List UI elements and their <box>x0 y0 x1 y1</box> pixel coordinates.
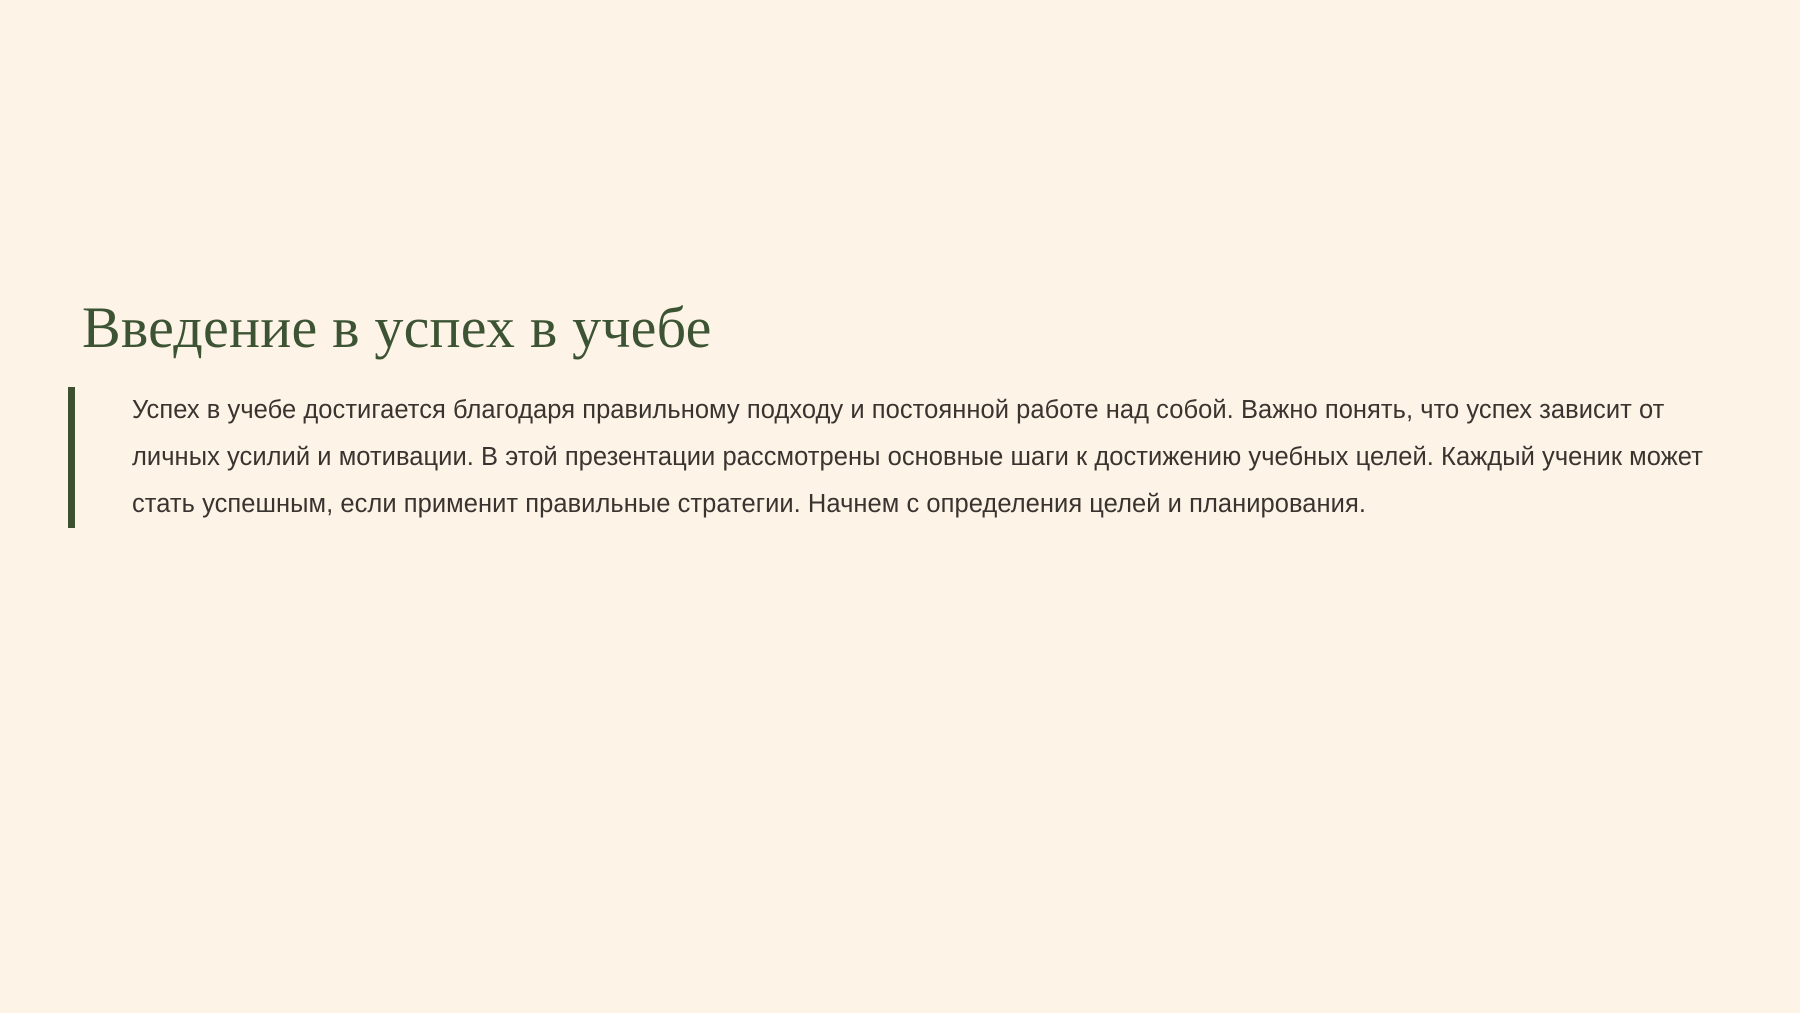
presentation-slide: Введение в успех в учебе Успех в учебе д… <box>0 0 1800 1013</box>
slide-content: Введение в успех в учебе Успех в учебе д… <box>68 296 1728 587</box>
accent-bar <box>68 387 75 528</box>
slide-body-text: Успех в учебе достигается благодаря прав… <box>132 387 1728 528</box>
slide-title: Введение в успех в учебе <box>68 296 1728 361</box>
body-block: Успех в учебе достигается благодаря прав… <box>68 387 1728 587</box>
